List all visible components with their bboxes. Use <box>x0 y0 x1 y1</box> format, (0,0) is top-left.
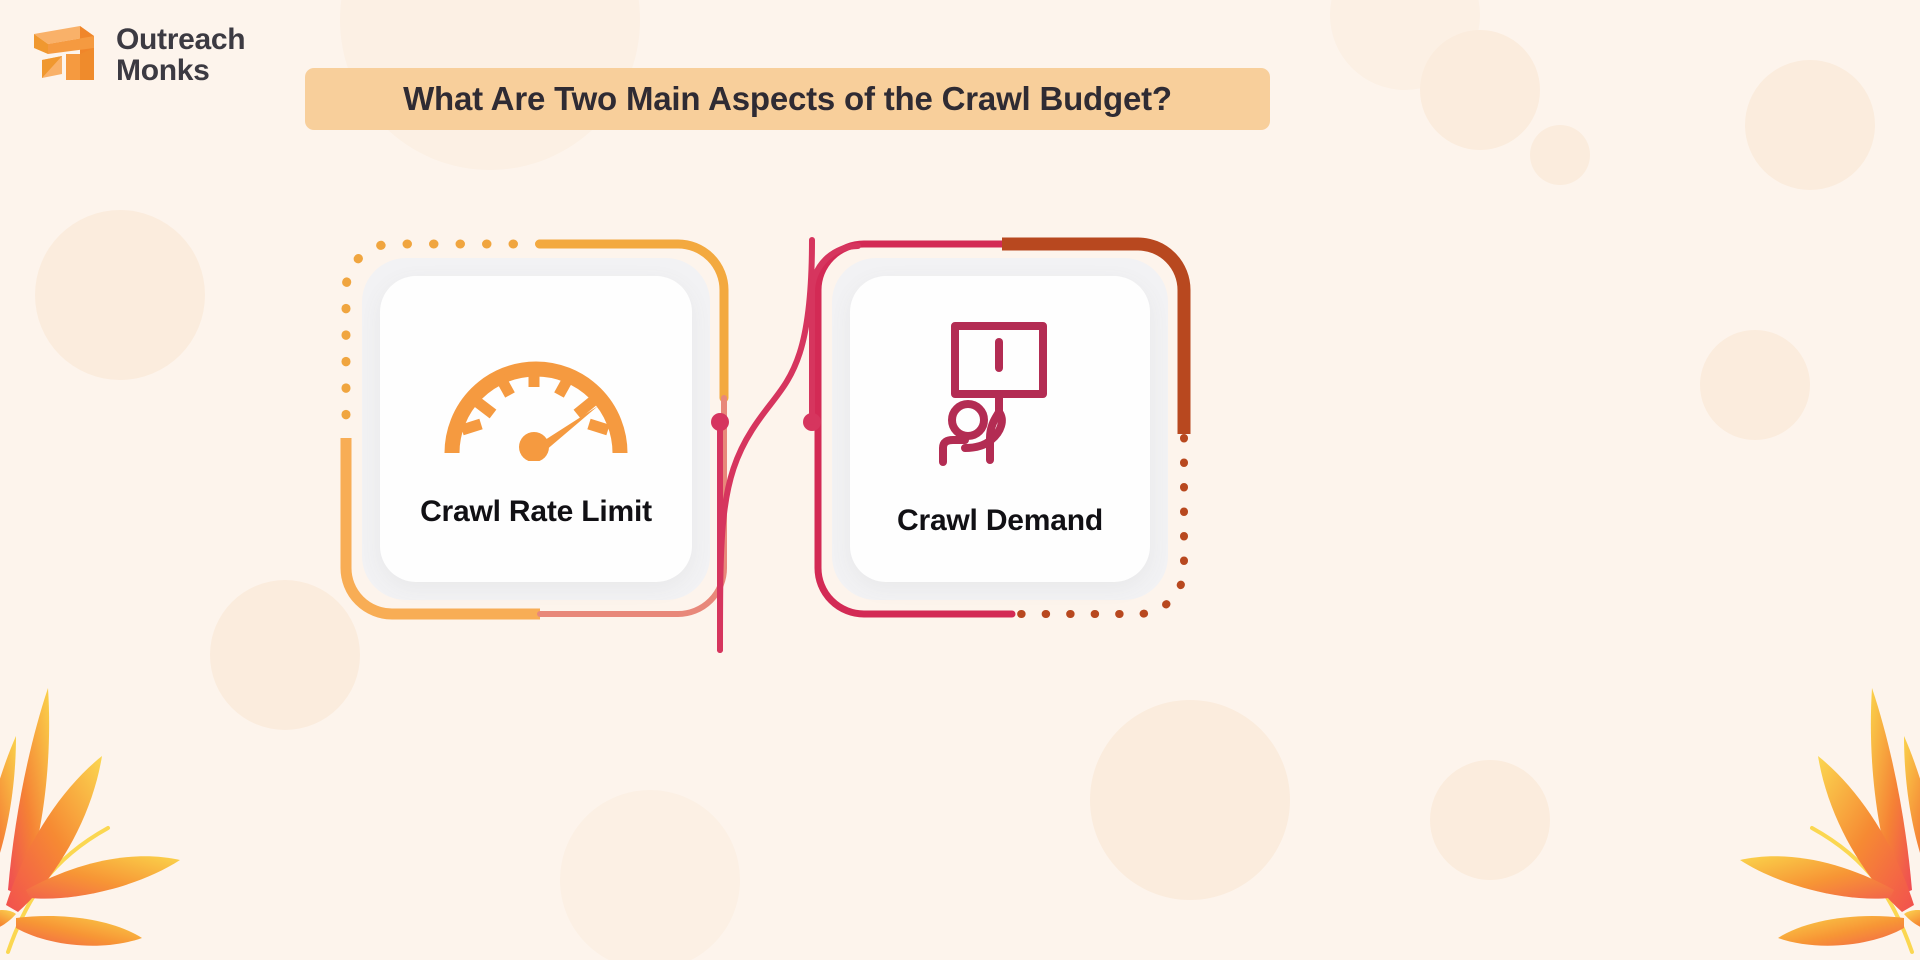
protest-sign-icon <box>935 320 1065 470</box>
bg-circle-4 <box>1530 125 1590 185</box>
brand-name-line1: Outreach <box>116 24 245 56</box>
card-right-surface: Crawl Demand <box>850 276 1150 582</box>
bg-circle-8 <box>210 580 360 730</box>
card-right-label: Crawl Demand <box>897 504 1103 538</box>
infographic-canvas: Outreach Monks What Are Two Main Aspects… <box>0 0 1920 960</box>
brand-name: Outreach Monks <box>116 24 245 87</box>
card-crawl-rate-limit[interactable]: Crawl Rate Limit <box>340 238 730 620</box>
bg-circle-3 <box>1420 30 1540 150</box>
card-left-surface: Crawl Rate Limit <box>380 276 692 582</box>
card-crawl-demand[interactable]: Crawl Demand <box>812 238 1190 620</box>
bg-circle-7 <box>35 210 205 380</box>
bg-circle-6 <box>1700 330 1810 440</box>
bg-circle-5 <box>1745 60 1875 190</box>
brand-logo[interactable]: Outreach Monks <box>28 18 245 92</box>
bg-circle-10 <box>1430 760 1550 880</box>
card-left-label: Crawl Rate Limit <box>420 495 652 529</box>
title-banner: What Are Two Main Aspects of the Crawl B… <box>305 68 1270 130</box>
tropical-leaves-left <box>0 560 220 960</box>
tropical-leaves-right <box>1700 560 1920 960</box>
bg-circle-11 <box>560 790 740 960</box>
brand-name-line2: Monks <box>116 55 245 87</box>
speedometer-icon <box>438 329 634 461</box>
bg-circle-9 <box>1090 700 1290 900</box>
bg-circle-2 <box>1330 0 1480 90</box>
page-title: What Are Two Main Aspects of the Crawl B… <box>403 80 1172 118</box>
isometric-cube-logo-icon <box>28 18 102 92</box>
